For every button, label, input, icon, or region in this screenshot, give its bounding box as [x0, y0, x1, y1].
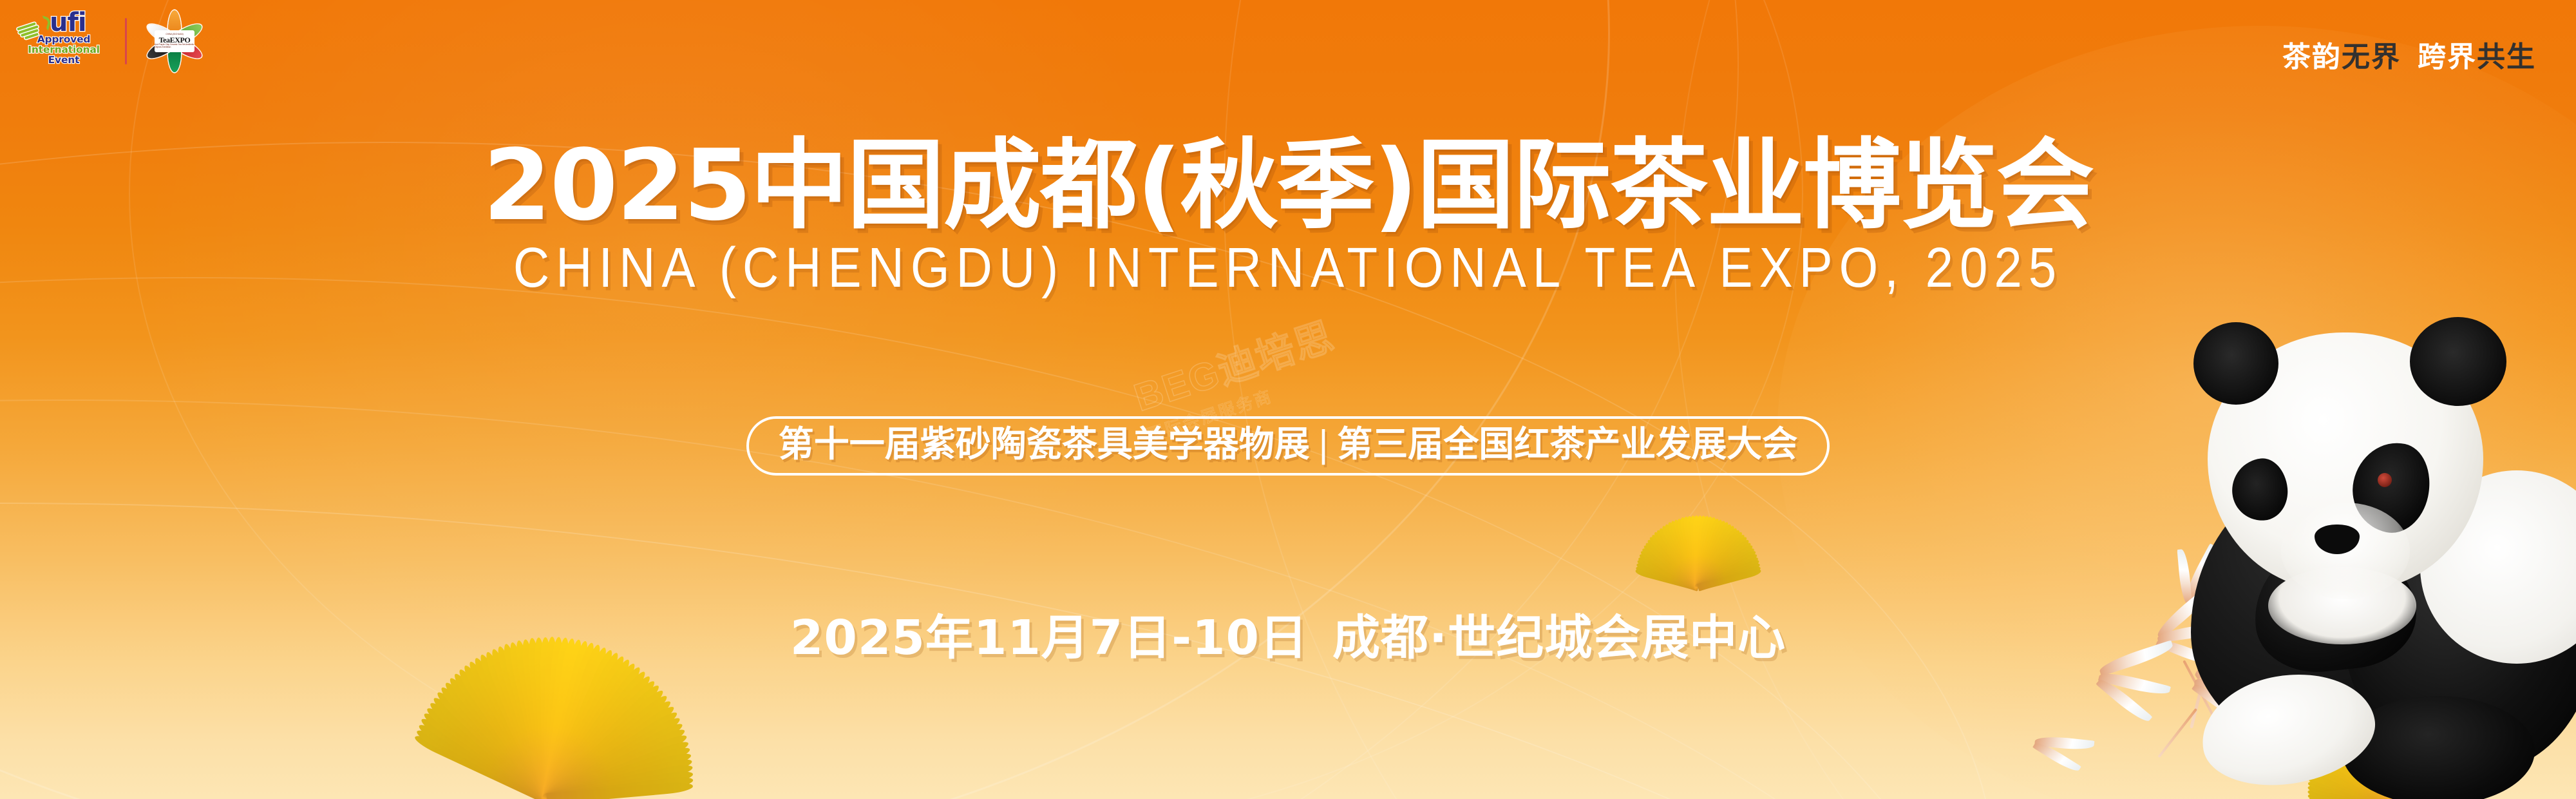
slogan-part-1: 茶韵 — [2282, 41, 2342, 73]
ginkgo-blade — [543, 673, 653, 799]
ginkgo-blade — [460, 663, 552, 799]
ginkgo-blade — [542, 648, 616, 799]
ginkgo-blade — [427, 699, 551, 799]
ufi-line-event: Event — [15, 55, 112, 66]
ginkgo-blade — [1689, 515, 1701, 588]
ginkgo-blade — [1698, 568, 1762, 592]
ufi-approved-event-logo: ufi Approved International Event — [15, 12, 112, 71]
ginkgo-blade — [1696, 528, 1742, 590]
ginkgo-blade — [1653, 530, 1701, 590]
ufi-wordmark: ufi — [50, 12, 86, 34]
ginkgo-blade — [1696, 546, 1756, 590]
ginkgo-blade — [544, 709, 679, 799]
date-venue-bar: 2025年11月7日-10日成都·世纪城会展中心 — [0, 599, 2576, 668]
ginkgo-blade — [417, 721, 550, 799]
tea-logo-bottom-micro: And Purple Clay Ceramic Tea Set Aestheti… — [155, 44, 194, 49]
ginkgo-blade — [542, 651, 621, 799]
ginkgo-blade — [477, 653, 552, 799]
event-date: 2025年11月7日-10日 — [790, 610, 1308, 666]
ginkgo-blade — [545, 738, 690, 799]
ginkgo-blade — [1647, 535, 1700, 590]
ginkgo-blade — [545, 726, 687, 799]
ginkgo-blade — [1686, 515, 1702, 588]
ginkgo-blade — [1636, 558, 1700, 591]
page-title-chinese: 2025中国成都(秋季)国际茶业博览会 — [0, 135, 2576, 235]
panda-ear-right — [2410, 317, 2506, 406]
ginkgo-blade — [413, 732, 550, 799]
ginkgo-blade — [446, 675, 552, 799]
ginkgo-blade — [1640, 546, 1700, 590]
watermark-line-1: BEG迪培思 — [1126, 305, 1340, 422]
slogan-part-3: 跨界 — [2418, 41, 2477, 73]
tea-expo-circular-logo: CHINA (SICHUAN) TeaEXPO And Purple Clay … — [140, 9, 209, 73]
ginkgo-blade — [545, 744, 692, 799]
ginkgo-fan-center — [1579, 515, 1817, 588]
ginkgo-blade — [543, 664, 644, 799]
ginkgo-blade — [1672, 519, 1702, 589]
ginkgo-blade — [547, 769, 694, 799]
ginkgo-blade — [415, 727, 550, 799]
bamboo-stem — [2157, 708, 2197, 758]
ginkgo-blade — [545, 714, 683, 799]
ginkgo-blade — [1693, 515, 1702, 588]
sub-banner-wrap: 第十一届紫砂陶瓷茶具美学器物展|第三届全国红茶产业发展大会 — [0, 416, 2576, 476]
ginkgo-blade — [424, 704, 551, 799]
ginkgo-blade — [1695, 517, 1721, 588]
ginkgo-blade — [546, 756, 694, 799]
ginkgo-blade — [421, 710, 551, 799]
ginkgo-blade — [1695, 517, 1718, 588]
ginkgo-blade — [1695, 519, 1725, 589]
ginkgo-blade — [1642, 543, 1701, 590]
ginkgo-blade — [542, 654, 627, 799]
ginkgo-blade — [1654, 528, 1701, 590]
ginkgo-blade — [1695, 520, 1727, 589]
ginkgo-blade — [544, 703, 677, 799]
ginkgo-blade — [1696, 530, 1745, 590]
ginkgo-blade — [1696, 552, 1758, 591]
ginkgo-blade — [547, 781, 693, 799]
ginkgo-blade — [1695, 525, 1736, 590]
ginkgo-blade — [547, 775, 694, 799]
ginkgo-blade — [545, 720, 685, 799]
ginkgo-blade — [1676, 517, 1701, 588]
ginkgo-blade — [434, 689, 551, 799]
ginkgo-blade — [1695, 515, 1711, 588]
ginkgo-blade — [1639, 549, 1700, 591]
ufi-swoosh-icon — [15, 12, 48, 33]
ginkgo-blade — [1696, 538, 1750, 590]
ginkgo-blade — [544, 678, 658, 799]
ginkgo-blade — [430, 694, 551, 799]
ginkgo-blade — [1666, 521, 1701, 589]
sub-banner-pill: 第十一届紫砂陶瓷茶具美学器物展|第三届全国红茶产业发展大会 — [746, 416, 1830, 476]
ginkgo-blade — [471, 656, 553, 799]
sub-banner-left-text: 第十一届紫砂陶瓷茶具美学器物展 — [779, 423, 1310, 465]
ginkgo-blade — [544, 698, 674, 799]
ginkgo-blade — [419, 715, 550, 799]
ginkgo-blade — [1645, 538, 1700, 590]
ginkgo-blade — [1634, 568, 1699, 592]
ginkgo-blade — [1635, 564, 1700, 592]
ginkgo-blade — [1696, 543, 1755, 590]
ginkgo-blade — [1695, 526, 1739, 590]
ginkgo-blade — [1682, 516, 1701, 588]
ginkgo-blade — [546, 762, 694, 799]
ginkgo-blade — [1636, 561, 1700, 591]
ginkgo-blade — [1696, 535, 1748, 590]
sub-banner-right-text: 第三届全国红茶产业发展大会 — [1337, 423, 1797, 465]
ginkgo-blade — [488, 647, 553, 799]
page-title-english: CHINA (CHENGDU) INTERNATIONAL TEA EXPO, … — [0, 239, 2576, 295]
ginkgo-blade — [546, 750, 693, 799]
expo-banner: ufi Approved International Event CHINA (… — [0, 0, 2576, 799]
ginkgo-blade — [466, 659, 552, 799]
ginkgo-blade — [544, 692, 670, 799]
ginkgo-blade — [1657, 526, 1701, 590]
ginkgo-blade — [1695, 515, 1707, 588]
ginkgo-blade — [1643, 541, 1700, 590]
ginkgo-blade — [442, 680, 551, 799]
banner-slogan: 茶韵无界跨界共生 — [2282, 34, 2536, 75]
ginkgo-blade — [451, 671, 552, 799]
sub-banner-separator: | — [1310, 425, 1338, 465]
panda-illustration — [2041, 309, 2576, 799]
ginkgo-blade — [455, 667, 552, 799]
ginkgo-blade — [1695, 515, 1704, 588]
ginkgo-blade — [543, 657, 633, 799]
panda-ear-left — [2193, 322, 2278, 405]
tea-expo-logo-text: CHINA (SICHUAN) TeaEXPO And Purple Clay … — [155, 30, 194, 52]
slogan-part-2: 无界 — [2342, 41, 2401, 73]
ginkgo-blade — [1695, 521, 1730, 589]
ginkgo-blade — [1697, 561, 1761, 591]
ginkgo-blade — [1696, 533, 1747, 590]
ginkgo-blade — [482, 650, 553, 799]
ginkgo-blade — [544, 688, 666, 799]
ginkgo-blade — [1638, 552, 1700, 591]
ginkgo-blade — [1679, 517, 1701, 588]
slogan-part-4: 共生 — [2477, 41, 2536, 73]
ginkgo-blade — [543, 661, 639, 799]
ginkgo-blade — [545, 732, 689, 799]
ginkgo-blade — [543, 669, 649, 799]
ginkgo-blade — [1637, 555, 1700, 591]
ginkgo-blade — [1669, 520, 1701, 589]
logo-strip: ufi Approved International Event CHINA (… — [15, 9, 209, 73]
ginkgo-blade — [1697, 564, 1761, 592]
ginkgo-blade — [1695, 523, 1734, 589]
ginkgo-blade — [438, 684, 551, 799]
ginkgo-blade — [1650, 533, 1701, 590]
ginkgo-blade — [1660, 525, 1701, 590]
ginkgo-blade — [1696, 549, 1757, 591]
logo-divider — [125, 18, 127, 64]
ginkgo-blade — [544, 682, 662, 799]
ginkgo-blade — [1695, 516, 1714, 588]
ginkgo-blade — [1696, 541, 1752, 590]
ginkgo-blade — [1663, 523, 1701, 589]
ginkgo-blade — [1697, 558, 1761, 591]
ginkgo-blade — [1697, 555, 1760, 591]
headline-block: 2025中国成都(秋季)国际茶业博览会 CHINA (CHENGDU) INTE… — [0, 135, 2576, 289]
ginkgo-blade — [542, 646, 610, 799]
bamboo-leaf — [2177, 549, 2192, 605]
event-venue: 成都·世纪城会展中心 — [1332, 610, 1786, 666]
